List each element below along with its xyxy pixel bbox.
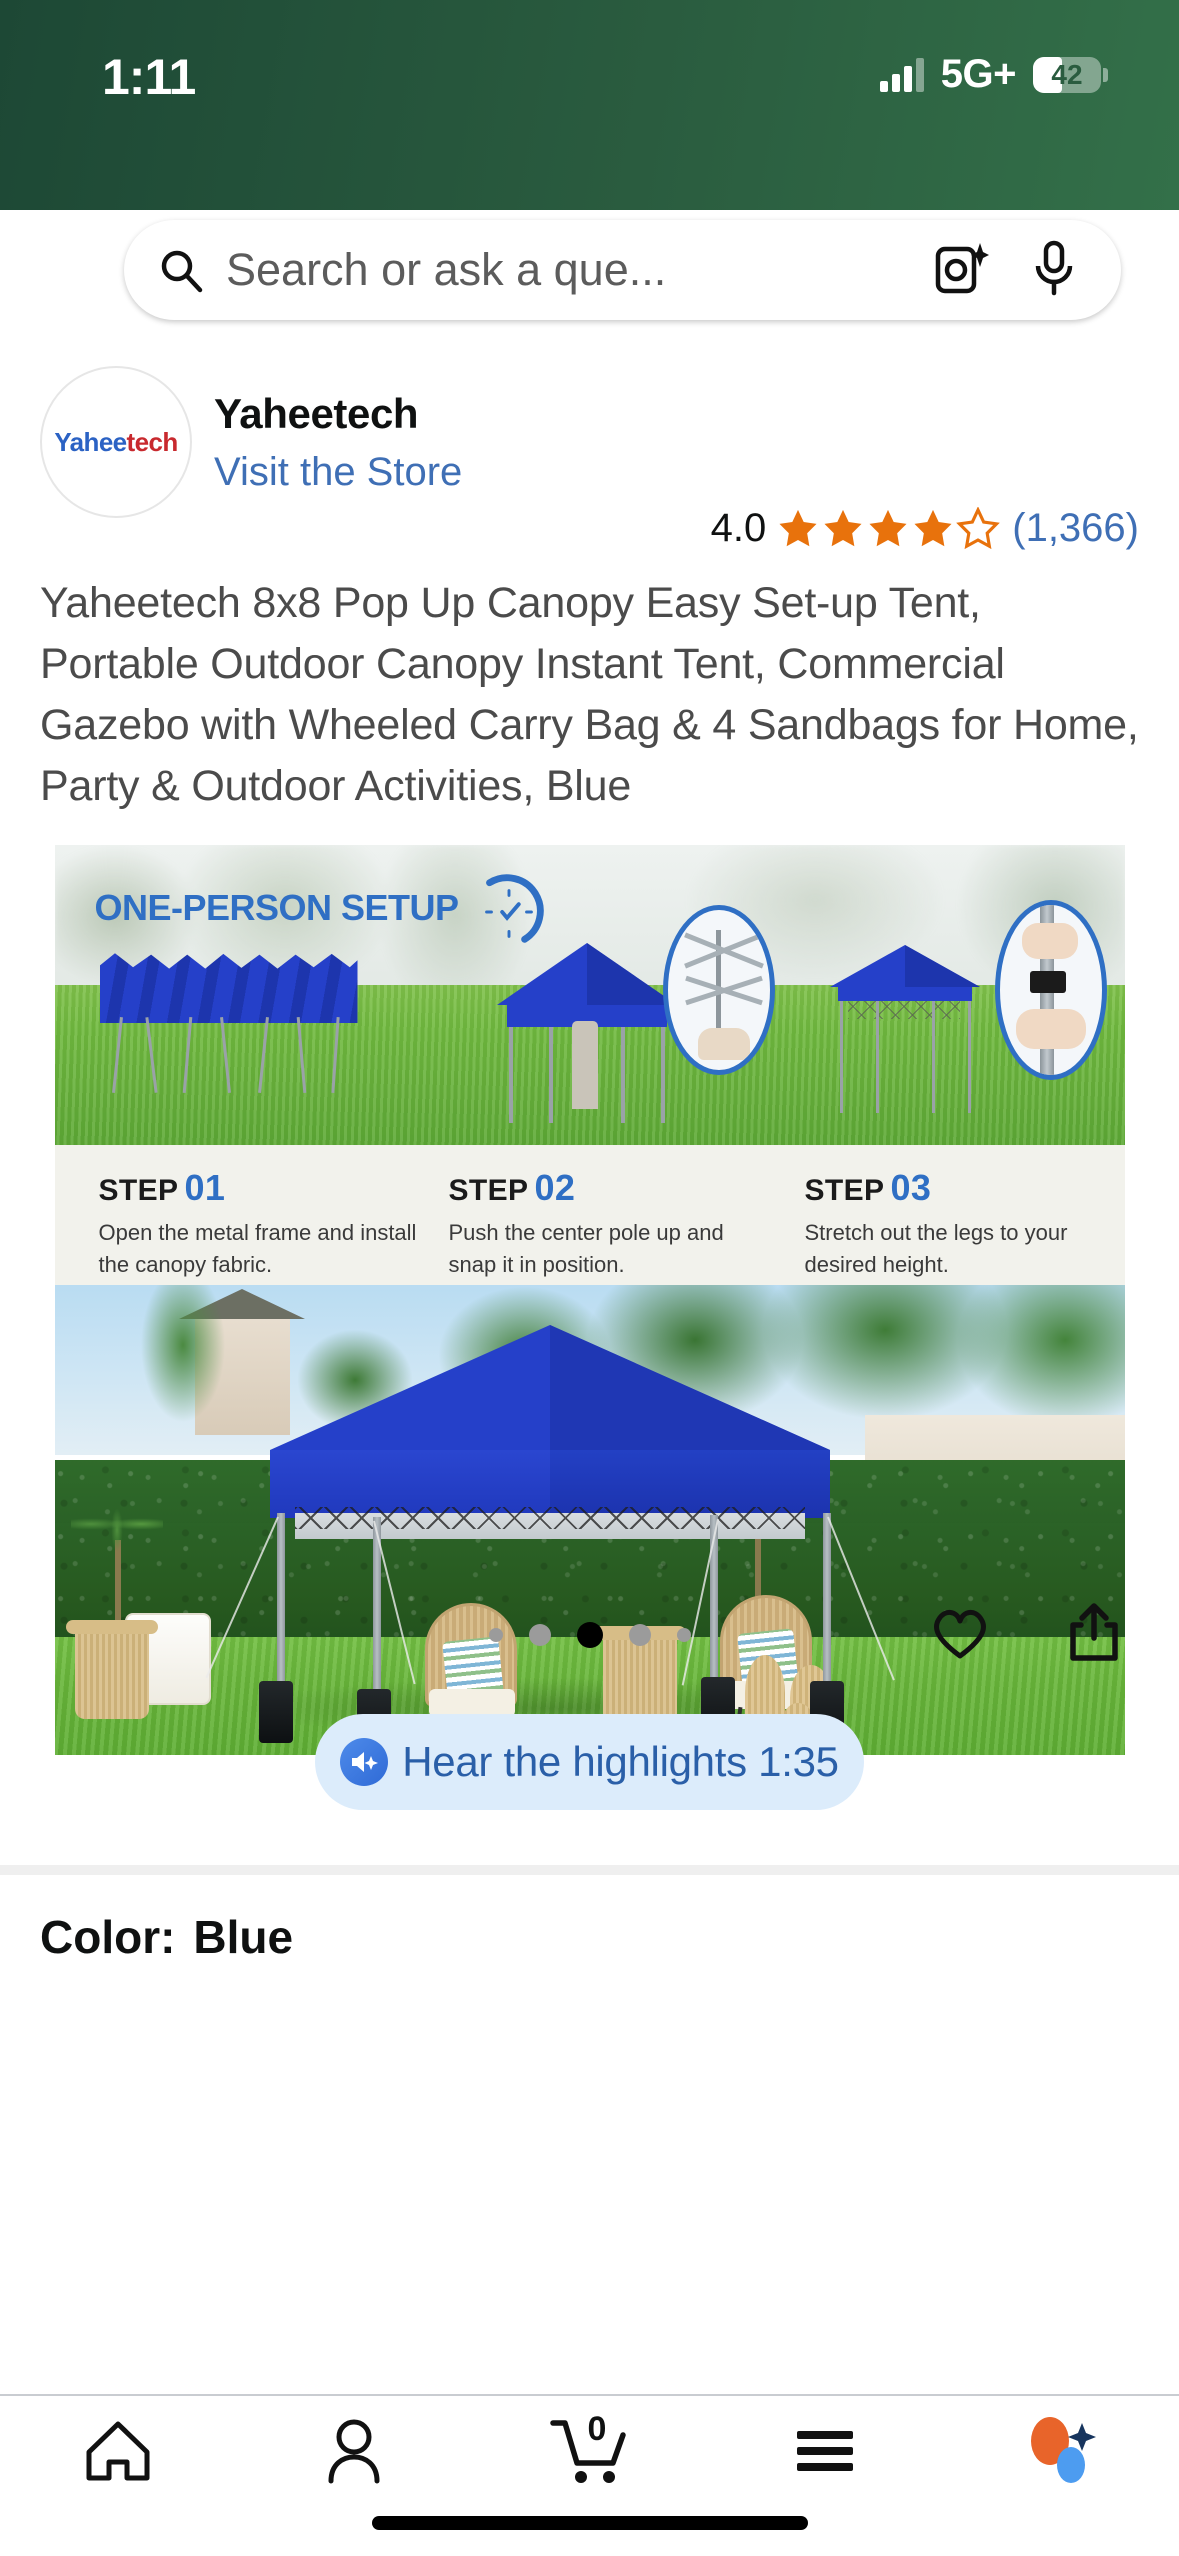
back-button[interactable] [20,222,116,318]
network-label: 5G+ [941,52,1016,97]
status-bar: 1:11 5G+ 42 [0,0,1179,210]
pagination-dot[interactable] [489,1628,503,1642]
nav-item-home[interactable] [0,2396,236,2506]
step-number: 01 [184,1167,225,1208]
step-item: STEP02 Push the center pole up and snap … [419,1167,769,1285]
signal-bars-icon [880,58,924,92]
canopy-roof-shade [550,1325,830,1450]
brand-logo: Yaheetech [40,366,192,518]
star-filled-icon [911,507,955,551]
step-label: STEP [99,1174,179,1207]
home-indicator [372,2516,808,2530]
pagination-dot[interactable] [529,1624,551,1646]
star-empty-icon [956,507,1000,551]
star-filled-icon [821,507,865,551]
canopy-frame-lattice [295,1507,805,1529]
nav-item-cart[interactable]: 0 [472,2396,708,2506]
color-label: Color: [40,1911,175,1963]
pagination-dots[interactable] [460,1622,720,1648]
brand-logo-part1: Yahee [54,427,126,457]
status-time: 1:11 [102,48,195,106]
rating-value: 4.0 [711,506,767,551]
sandbag [259,1681,293,1743]
setup-steps: STEP01 Open the metal frame and install … [55,1145,1125,1285]
color-value: Blue [193,1911,293,1963]
search-icon [158,247,204,293]
gallery-controls [0,1595,1179,1675]
step-text: Push the center pole up and snap it in p… [449,1217,769,1281]
product-page-content: Yaheetech Yaheetech Visit the Store 4.0 … [0,340,1179,2556]
search-input[interactable]: Search or ask a que... [226,244,935,296]
visit-store-link[interactable]: Visit the Store [214,450,462,495]
share-icon[interactable] [1065,1602,1123,1669]
hear-highlights-button[interactable]: Hear the highlights 1:35 [315,1714,864,1810]
nav-item-menu[interactable] [707,2396,943,2506]
hero-photo [55,1285,1125,1755]
pagination-dot[interactable] [677,1628,691,1642]
nav-item-account[interactable] [236,2396,472,2506]
back-arrow-icon [37,245,99,295]
speaker-sparkle-icon [340,1738,388,1786]
step-item: STEP03 Stretch out the legs to your desi… [769,1167,1125,1285]
bottom-navigation: 0 [0,2394,1179,2556]
search-header: Search or ask a que... [0,200,1179,340]
canopy-step3 [810,945,1000,1125]
hear-highlights-label: Hear the highlights 1:35 [402,1738,838,1786]
person-icon [322,2417,386,2485]
step-text: Open the metal frame and install the can… [99,1217,419,1281]
canopy-step2 [487,943,687,1128]
brand-name: Yaheetech [214,390,462,438]
canopy-folded-group [100,953,360,1123]
step-number: 02 [534,1167,575,1208]
section-divider [0,1865,1179,1875]
zoom-detail-frame [663,905,775,1075]
star-filled-icon [776,507,820,551]
review-count[interactable]: (1,366) [1012,506,1139,551]
rating-row[interactable]: 4.0 (1,366) [0,506,1179,551]
rating-stars[interactable] [776,507,1000,551]
nav-item-assistant[interactable] [943,2396,1179,2506]
step-item: STEP01 Open the metal frame and install … [55,1167,419,1285]
step-label: STEP [805,1174,885,1207]
step-label: STEP [449,1174,529,1207]
clock-icon [470,873,548,951]
search-bar[interactable]: Search or ask a que... [124,220,1121,320]
heart-icon[interactable] [929,1604,991,1667]
microphone-icon[interactable] [1033,240,1075,301]
pagination-dot[interactable] [629,1624,651,1646]
step-text: Stretch out the legs to your desired hei… [805,1217,1125,1281]
infographic-headline: ONE-PERSON SETUP [95,887,459,929]
battery-percent: 42 [1033,57,1101,93]
battery-icon: 42 [1033,57,1101,93]
cart-badge: 0 [587,2410,606,2449]
setup-infographic: ONE-PERSON SETUP [55,845,1125,1145]
pagination-dot-active[interactable] [577,1622,603,1648]
zoom-detail-pole [995,900,1107,1080]
step-number: 03 [890,1167,931,1208]
color-variation-row[interactable]: Color:Blue [40,1910,293,1964]
home-icon [83,2418,153,2484]
page-title: Yaheetech 8x8 Pop Up Canopy Easy Set-up … [0,551,1179,817]
brand-row[interactable]: Yaheetech Yaheetech Visit the Store [0,340,1179,518]
status-indicators: 5G+ 42 [880,52,1101,97]
camera-lens-icon[interactable] [935,240,989,301]
hamburger-menu-icon [793,2426,857,2476]
ai-assistant-icon [1022,2415,1100,2487]
star-filled-icon [866,507,910,551]
brand-logo-part2: tech [127,427,178,457]
